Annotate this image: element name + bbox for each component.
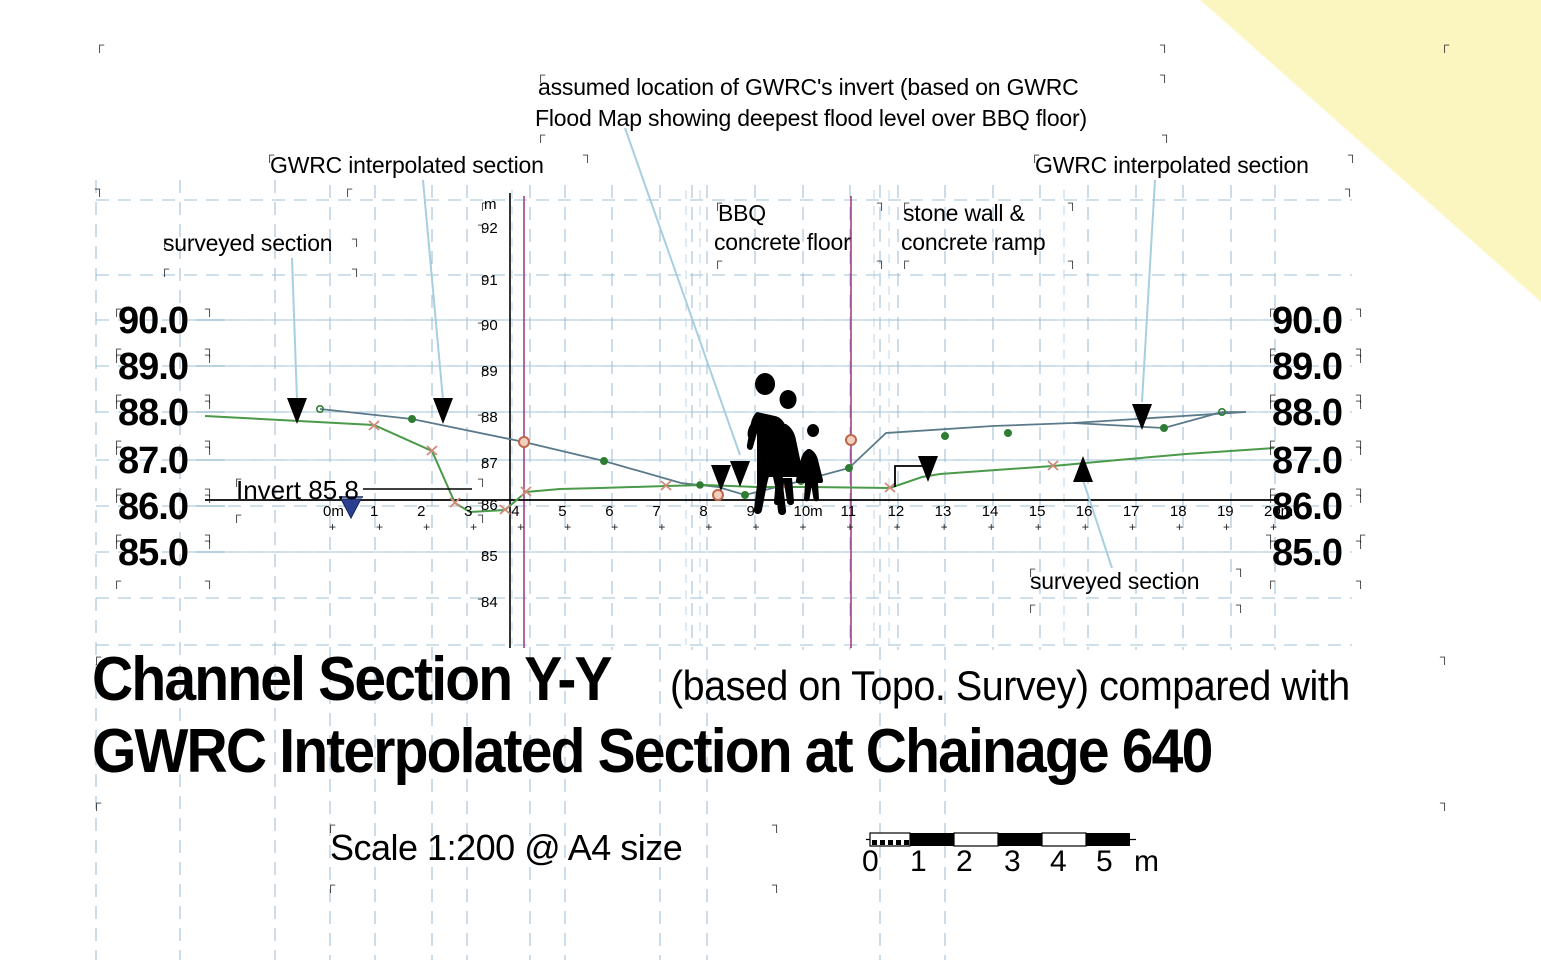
figure-title-block: Channel Section Y-Y(based on Topo. Surve… <box>92 648 1472 785</box>
title-line-2: GWRC Interpolated Section at Chainage 64… <box>92 720 1472 784</box>
x-axis-tick-20: 20m <box>1264 503 1293 520</box>
x-axis-tick-mark-6: + <box>611 520 618 534</box>
registration-mark: ┐ <box>1236 562 1245 575</box>
x-axis-tick-mark-0: + <box>329 520 336 534</box>
x-axis-tick-mark-16: + <box>1082 520 1089 534</box>
registration-mark: ┌ <box>1026 562 1035 575</box>
registration-mark: ┌ <box>1030 148 1039 161</box>
right-elevation-89: 89.0 <box>1272 346 1342 389</box>
registration-mark: ┐ <box>205 488 214 501</box>
scale-note: Scale 1:200 @ A4 size <box>330 827 682 869</box>
annotation-stonewall-line2: concrete ramp <box>901 227 1045 258</box>
registration-mark: ┐ <box>1356 348 1365 361</box>
x-axis-tick-11: 11 <box>841 503 857 520</box>
scalebar-tick-0: 0 <box>862 845 879 879</box>
x-axis-tick-17: 17 <box>1123 503 1140 520</box>
annotation-bbq-line1: BBQ <box>718 198 766 229</box>
left-elevation-86: 86.0 <box>118 486 188 529</box>
annotation-stonewall-line1: stone wall & <box>903 198 1025 229</box>
callout-leaders <box>292 128 1155 568</box>
registration-mark: ┐ <box>205 534 214 547</box>
registration-mark: ┌ <box>112 348 121 361</box>
x-axis-tick-mark-11: + <box>847 520 854 534</box>
registration-mark: ┐ <box>352 262 361 275</box>
registration-mark: ┌ <box>1266 302 1275 315</box>
x-axis-tick-2: 2 <box>417 503 425 520</box>
registration-mark: ┌ <box>112 302 121 315</box>
registration-mark: ┐ <box>205 440 214 453</box>
registration-mark: ┐ <box>772 878 781 891</box>
x-axis-tick-10: 10m <box>794 503 823 520</box>
registration-mark: ┌ <box>1266 488 1275 501</box>
registration-mark: ┐ <box>1162 128 1171 141</box>
registration-mark: ┌ <box>1266 348 1275 361</box>
scalebar-tick-3: 3 <box>1004 845 1021 879</box>
registration-mark: ┌ <box>160 232 169 245</box>
x-axis-tick-mark-10: + <box>800 520 807 534</box>
registration-mark: ┌ <box>232 472 241 485</box>
x-axis-tick-19: 19 <box>1217 503 1234 520</box>
x-axis-tick-18: 18 <box>1170 503 1187 520</box>
scalebar-tick-2: 2 <box>956 845 973 879</box>
x-axis-tick-7: 7 <box>652 503 660 520</box>
x-axis-tick-mark-17: + <box>1129 520 1136 534</box>
registration-mark: ┐ <box>877 254 886 267</box>
annotation-surveyed-section-right: surveyed section <box>1030 566 1199 597</box>
registration-mark: ┌ <box>1266 534 1275 547</box>
right-elevation-87: 87.0 <box>1272 440 1342 483</box>
x-axis-tick-mark-14: + <box>988 520 995 534</box>
scalebar-tick-4: 4 <box>1050 845 1067 879</box>
registration-mark: ┌ <box>343 182 352 195</box>
registration-mark: ┌ <box>92 650 101 663</box>
x-axis-tick-3: 3 <box>464 503 472 520</box>
x-axis-tick-9: 9 <box>746 503 754 520</box>
registration-mark: ┌ <box>112 394 121 407</box>
left-elevation-90: 90.0 <box>118 300 188 343</box>
x-axis-tick-16: 16 <box>1076 503 1093 520</box>
registration-mark: ┐ <box>205 394 214 407</box>
registration-mark: ┌ <box>112 488 121 501</box>
right-elevation-85: 85.0 <box>1272 532 1342 575</box>
registration-mark: ┌ <box>112 440 121 453</box>
x-axis-tick-6: 6 <box>605 503 613 520</box>
left-elevation-87: 87.0 <box>118 440 188 483</box>
x-axis-tick-mark-13: + <box>941 520 948 534</box>
x-axis-tick-mark-5: + <box>564 520 571 534</box>
registration-mark: ┐ <box>772 818 781 831</box>
registration-mark: ┐ <box>583 148 592 161</box>
x-axis-tick-13: 13 <box>935 503 952 520</box>
registration-mark: ┌ <box>232 508 241 521</box>
registration-mark: ┌ <box>478 362 487 375</box>
annotation-bbq-line2: concrete floor <box>714 227 851 258</box>
registration-mark: ┌ <box>478 196 487 209</box>
registration-mark: ┐ <box>478 316 487 329</box>
drawing-canvas: 90.0 89.0 88.0 87.0 86.0 85.0 90.0 89.0 … <box>0 0 1541 960</box>
registration-mark: ┐ <box>1356 534 1365 547</box>
x-axis-tick-mark-19: + <box>1223 520 1230 534</box>
x-axis-tick-4: 4 <box>511 503 519 520</box>
annotation-assumed-invert-line1: assumed location of GWRC's invert (based… <box>538 72 1079 103</box>
registration-mark: ┐ <box>205 302 214 315</box>
registration-mark: ┌ <box>536 128 545 141</box>
registration-mark: ┐ <box>1345 182 1354 195</box>
registration-mark: ┐ <box>1236 598 1245 611</box>
registration-mark: ┐ <box>1068 254 1077 267</box>
registration-mark: ┐ <box>1356 574 1365 587</box>
registration-mark: ┐ <box>1356 302 1365 315</box>
people-silhouettes <box>747 373 823 515</box>
registration-mark: ┐ <box>478 408 487 421</box>
x-axis-tick-15: 15 <box>1029 503 1046 520</box>
registration-mark: ┌ <box>1440 38 1449 51</box>
title-main: Channel Section Y-Y <box>92 648 611 712</box>
registration-mark: ┌ <box>1026 598 1035 611</box>
registration-mark: ┌ <box>112 574 121 587</box>
registration-mark: ┐ <box>1356 440 1365 453</box>
registration-mark: ┐ <box>478 592 487 605</box>
annotation-surveyed-section-left: surveyed section <box>163 228 332 259</box>
registration-mark: ┐ <box>1348 148 1357 161</box>
annotation-assumed-invert-line2: Flood Map showing deepest flood level ov… <box>535 103 1087 134</box>
registration-mark: ┐ <box>478 496 487 509</box>
registration-mark: ┌ <box>112 534 121 547</box>
x-axis-tick-mark-1: + <box>376 520 383 534</box>
title-chainage: GWRC Interpolated Section at Chainage 64… <box>92 720 1211 784</box>
x-axis-tick-1: 1 <box>370 503 378 520</box>
registration-mark: ┌ <box>326 878 335 891</box>
registration-mark: ┌ <box>713 254 722 267</box>
registration-mark: ┌ <box>478 546 487 559</box>
registration-mark: ┐ <box>205 348 214 361</box>
x-axis-tick-mark-7: + <box>658 520 665 534</box>
registration-mark: ┐ <box>95 182 104 195</box>
x-axis-tick-mark-9: + <box>752 520 759 534</box>
x-axis-tick-mark-12: + <box>894 520 901 534</box>
left-elevation-89: 89.0 <box>118 346 188 389</box>
x-axis-tick-mark-18: + <box>1176 520 1183 534</box>
registration-mark: ┌ <box>265 148 274 161</box>
x-axis-tick-14: 14 <box>982 503 999 520</box>
x-axis-tick-mark-8: + <box>705 520 712 534</box>
scalebar-tick-1: 1 <box>910 845 927 879</box>
registration-mark: ┐ <box>478 472 487 485</box>
registration-mark: ┌ <box>900 254 909 267</box>
title-sub: (based on Topo. Survey) compared with <box>670 664 1350 708</box>
registration-mark: ┌ <box>92 796 101 809</box>
registration-mark: ┐ <box>1440 650 1449 663</box>
registration-mark: ┌ <box>478 270 487 283</box>
x-axis-tick-mark-3: + <box>470 520 477 534</box>
registration-mark: ┌ <box>1266 394 1275 407</box>
registration-mark: ┐ <box>478 218 487 231</box>
left-elevation-88: 88.0 <box>118 392 188 435</box>
x-axis-tick-mark-2: + <box>423 520 430 534</box>
registration-mark: ┐ <box>352 232 361 245</box>
registration-mark: ┌ <box>95 38 104 51</box>
annotation-invert-level: Invert 85.8 <box>236 475 359 506</box>
right-elevation-90: 90.0 <box>1272 300 1342 343</box>
registration-mark: ┌ <box>900 196 909 209</box>
registration-mark: ┌ <box>713 196 722 209</box>
registration-mark: ┐ <box>1356 394 1365 407</box>
registration-mark: ┌ <box>1266 440 1275 453</box>
registration-mark: ┐ <box>877 196 886 209</box>
x-axis-tick-8: 8 <box>699 503 707 520</box>
x-axis-tick-mark-15: + <box>1035 520 1042 534</box>
registration-mark: ┌ <box>478 454 487 467</box>
x-axis-tick-5: 5 <box>558 503 566 520</box>
scalebar-unit: m <box>1134 845 1159 879</box>
annotation-gwrc-interpolated-right: GWRC interpolated section <box>1035 150 1309 181</box>
registration-mark: ┐ <box>1160 38 1169 51</box>
registration-mark: ┌ <box>160 262 169 275</box>
title-line-1: Channel Section Y-Y(based on Topo. Surve… <box>92 648 1472 712</box>
registration-mark: ┐ <box>1356 488 1365 501</box>
registration-mark: ┌ <box>326 818 335 831</box>
right-elevation-88: 88.0 <box>1272 392 1342 435</box>
registration-mark: ┐ <box>1068 196 1077 209</box>
registration-mark: ┐ <box>1440 796 1449 809</box>
annotation-gwrc-interpolated-left: GWRC interpolated section <box>270 150 544 181</box>
x-axis-tick-12: 12 <box>888 503 905 520</box>
scalebar-tick-5: 5 <box>1096 845 1113 879</box>
registration-mark: ┌ <box>1266 574 1275 587</box>
x-axis-tick-mark-4: + <box>517 520 524 534</box>
registration-mark: ┌ <box>536 68 545 81</box>
registration-mark: ┐ <box>1160 68 1169 81</box>
left-elevation-85: 85.0 <box>118 532 188 575</box>
registration-mark: ┐ <box>205 574 214 587</box>
